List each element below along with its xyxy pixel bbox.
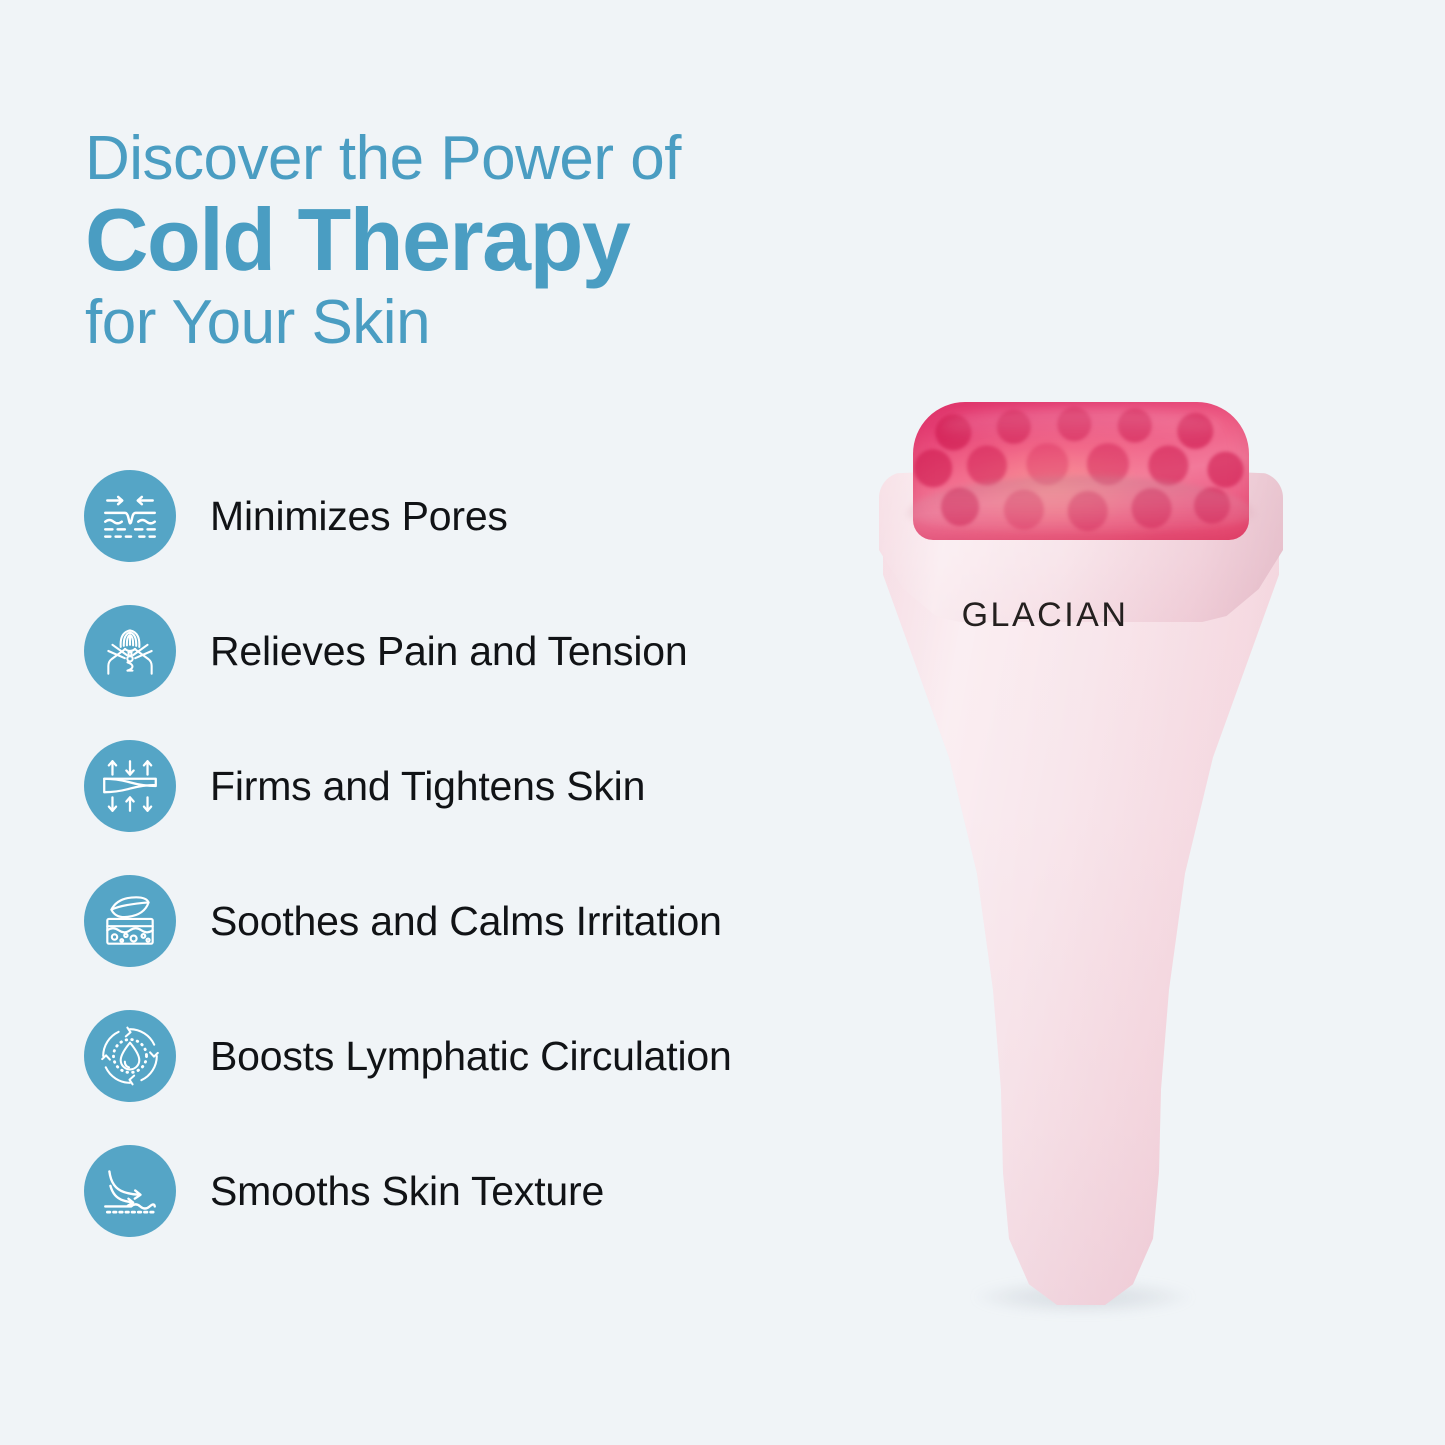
benefit-item-relieves-pain: Relieves Pain and Tension	[84, 605, 884, 697]
benefit-label: Boosts Lymphatic Circulation	[210, 1032, 732, 1080]
benefit-item-minimizes-pores: Minimizes Pores	[84, 470, 884, 562]
benefit-label: Smooths Skin Texture	[210, 1167, 604, 1215]
product-image-ice-roller: GLACIAN	[845, 380, 1365, 1340]
lymphatic-circulation-icon	[84, 1010, 176, 1102]
benefit-label: Firms and Tightens Skin	[210, 762, 645, 810]
benefit-item-smooths-texture: Smooths Skin Texture	[84, 1145, 884, 1237]
benefit-label: Soothes and Calms Irritation	[210, 897, 722, 945]
headline-block: Discover the Power of Cold Therapy for Y…	[85, 122, 875, 360]
skin-smoothing-icon	[84, 1145, 176, 1237]
skin-firming-icon	[84, 740, 176, 832]
benefit-item-boosts-lymphatic: Boosts Lymphatic Circulation	[84, 1010, 884, 1102]
ice-head-gloss	[940, 408, 1222, 444]
pain-relief-icon	[84, 605, 176, 697]
pore-minimizing-icon	[84, 470, 176, 562]
soothing-leaf-skin-icon	[84, 875, 176, 967]
benefit-label: Relieves Pain and Tension	[210, 627, 687, 675]
benefit-item-soothes-calms: Soothes and Calms Irritation	[84, 875, 884, 967]
headline-line-2: Cold Therapy	[85, 192, 875, 288]
benefit-label: Minimizes Pores	[210, 492, 508, 540]
brand-logo-text: GLACIAN	[845, 596, 1245, 635]
product-infographic: Discover the Power of Cold Therapy for Y…	[0, 0, 1445, 1445]
headline-line-3: for Your Skin	[85, 286, 875, 360]
benefit-item-firms-tightens: Firms and Tightens Skin	[84, 740, 884, 832]
headline-line-1: Discover the Power of	[85, 122, 875, 196]
benefits-list: Minimizes Pores	[84, 470, 884, 1237]
